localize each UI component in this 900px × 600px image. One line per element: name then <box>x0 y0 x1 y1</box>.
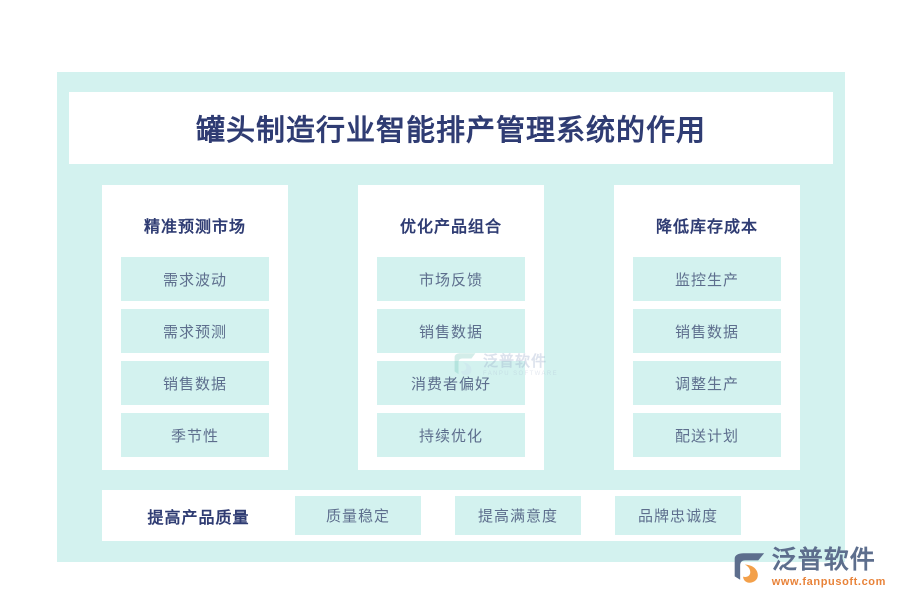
page-title: 罐头制造行业智能排产管理系统的作用 <box>196 107 706 149</box>
bottom-category-item[interactable]: 品牌忠诚度 <box>615 496 741 535</box>
category-item[interactable]: 需求预测 <box>121 309 269 353</box>
brand-name: 泛普软件 <box>772 548 886 573</box>
category-item[interactable]: 监控生产 <box>633 257 781 301</box>
category-heading-1: 精准预测市场 <box>144 213 246 237</box>
category-item[interactable]: 配送计划 <box>633 413 781 457</box>
title-band: 罐头制造行业智能排产管理系统的作用 <box>69 92 833 164</box>
category-item[interactable]: 调整生产 <box>633 361 781 405</box>
category-item[interactable]: 需求波动 <box>121 257 269 301</box>
bottom-category-band: 提高产品质量 质量稳定 提高满意度 品牌忠诚度 <box>102 490 800 541</box>
category-item[interactable]: 消费者偏好 <box>377 361 525 405</box>
category-heading-3: 降低库存成本 <box>656 213 758 237</box>
category-card-2: 优化产品组合 市场反馈 销售数据 消费者偏好 持续优化 <box>358 185 544 470</box>
bottom-category-item[interactable]: 提高满意度 <box>455 496 581 535</box>
category-heading-2: 优化产品组合 <box>400 213 502 237</box>
category-item[interactable]: 销售数据 <box>633 309 781 353</box>
category-card-3: 降低库存成本 监控生产 销售数据 调整生产 配送计划 <box>614 185 800 470</box>
category-item[interactable]: 市场反馈 <box>377 257 525 301</box>
category-item[interactable]: 季节性 <box>121 413 269 457</box>
category-columns: 精准预测市场 需求波动 需求预测 销售数据 季节性 优化产品组合 市场反馈 销售… <box>102 185 800 470</box>
brand-url: www.fanpusoft.com <box>772 577 886 588</box>
category-items-2: 市场反馈 销售数据 消费者偏好 持续优化 <box>377 257 525 457</box>
slide-canvas: 泛普软件 FANPU SOFTWARE 罐头制造行业智能排产管理系统的作用 精准… <box>0 0 900 600</box>
category-items-3: 监控生产 销售数据 调整生产 配送计划 <box>633 257 781 457</box>
bottom-category-items: 质量稳定 提高满意度 品牌忠诚度 <box>295 496 741 535</box>
category-item[interactable]: 销售数据 <box>377 309 525 353</box>
category-items-1: 需求波动 需求预测 销售数据 季节性 <box>121 257 269 457</box>
brand-logo: 泛普软件 www.fanpusoft.com <box>732 548 886 588</box>
category-card-1: 精准预测市场 需求波动 需求预测 销售数据 季节性 <box>102 185 288 470</box>
bottom-category-item[interactable]: 质量稳定 <box>295 496 421 535</box>
category-item[interactable]: 销售数据 <box>121 361 269 405</box>
category-item[interactable]: 持续优化 <box>377 413 525 457</box>
fanpu-logo-icon <box>732 552 766 584</box>
brand-texts: 泛普软件 www.fanpusoft.com <box>772 548 886 588</box>
bottom-category-heading: 提高产品质量 <box>102 504 295 528</box>
